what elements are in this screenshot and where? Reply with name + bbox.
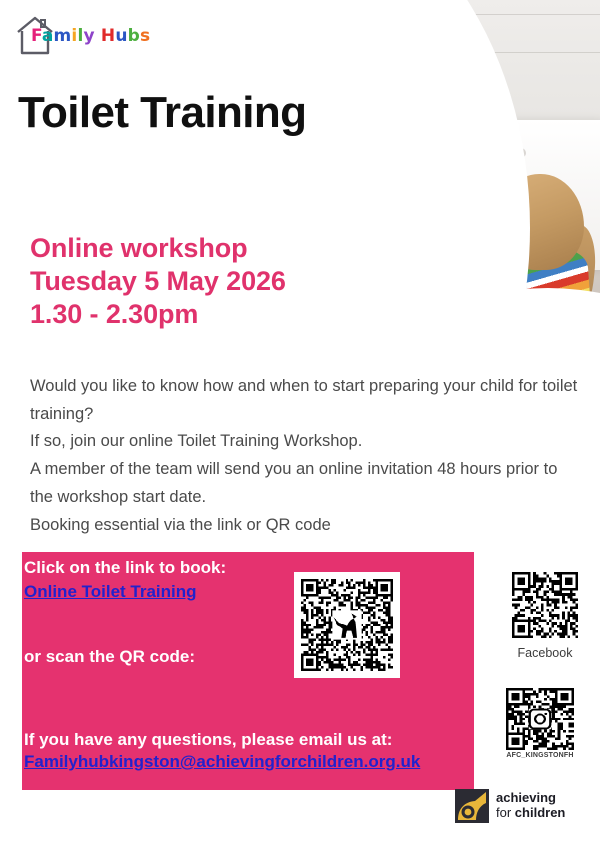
facebook-qr-block[interactable]: Facebook (512, 572, 578, 660)
instagram-qr-block[interactable]: AFC_KINGSTONFH (502, 688, 578, 759)
instagram-icon[interactable] (506, 688, 574, 750)
instagram-label: AFC_KINGSTONFH (502, 752, 578, 759)
booking-heading: Click on the link to book: (24, 558, 226, 578)
poster-canvas: Family Hubs Toilet Training Online works… (0, 0, 600, 843)
afc-wordmark: achieving for children (496, 791, 565, 820)
afc-line-1: achieving (496, 791, 565, 806)
body-paragraph-2: If so, join our online Toilet Training W… (30, 428, 578, 456)
booking-panel: Click on the link to book: Online Toilet… (22, 552, 474, 790)
questions-label: If you have any questions, please email … (24, 730, 392, 750)
qr-code-icon[interactable] (512, 572, 578, 638)
subhead-line-3: 1.30 - 2.30pm (30, 298, 286, 331)
body-paragraph-4: Booking essential via the link or QR cod… (30, 512, 578, 540)
body-copy: Would you like to know how and when to s… (30, 373, 578, 539)
body-paragraph-1: Would you like to know how and when to s… (30, 373, 578, 428)
booking-qr-code[interactable] (294, 572, 400, 678)
body-paragraph-3: A member of the team will send you an on… (30, 456, 578, 511)
afc-line-2-bold: children (515, 805, 566, 820)
header-photo (248, 0, 600, 368)
facebook-label: Facebook (512, 646, 578, 660)
subhead-line-2: Tuesday 5 May 2026 (30, 265, 286, 298)
family-hubs-logo: Family Hubs (14, 14, 122, 58)
family-hubs-wordmark: Family Hubs (31, 26, 150, 46)
booking-link[interactable]: Online Toilet Training (24, 582, 197, 602)
afc-mark-icon (455, 789, 489, 823)
achieving-for-children-logo: achieving for children (455, 789, 565, 823)
afc-line-2: for children (496, 806, 565, 821)
event-subheading: Online workshop Tuesday 5 May 2026 1.30 … (30, 232, 286, 331)
page-title: Toilet Training (18, 88, 306, 138)
subhead-line-1: Online workshop (30, 232, 286, 265)
afc-line-2-light: for (496, 805, 515, 820)
contact-email-link[interactable]: Familyhubkingston@achievingforchildren.o… (24, 752, 420, 772)
scan-qr-label: or scan the QR code: (24, 647, 195, 667)
